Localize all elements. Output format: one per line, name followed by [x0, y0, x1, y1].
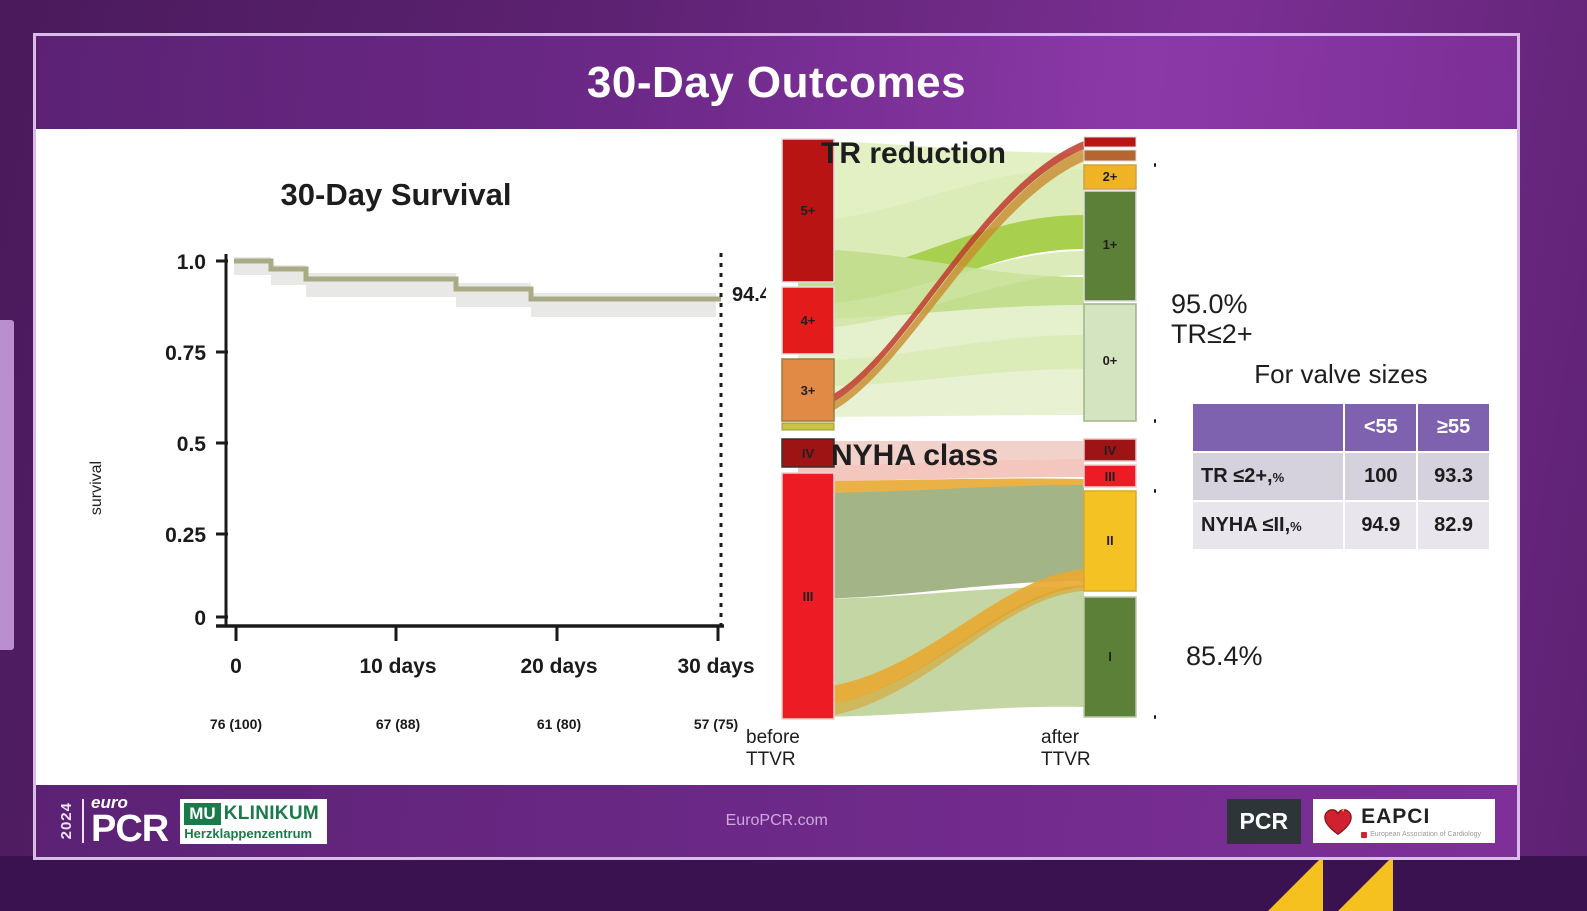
tr-right-node-4plus[interactable]: [1084, 150, 1136, 161]
logo-pcr-text: euro PCR: [91, 795, 168, 847]
slide-footer: 2024 euro PCR MU KLINIKUM Herzklappenzen…: [36, 785, 1517, 857]
heart-icon: [1323, 807, 1353, 837]
nyha-left-node-iii-label: III: [803, 589, 814, 604]
eapci-dot-icon: [1361, 832, 1367, 838]
logo-divider: [82, 799, 84, 843]
tr-sankey-title: TR reduction: [821, 137, 1006, 171]
nyha-summary-bracket: [1154, 491, 1156, 717]
survival-at-risk: 57 (75): [694, 716, 738, 732]
survival-chart-panel: 30-Day Survival survival: [76, 149, 766, 769]
table-header-blank: [1193, 404, 1343, 451]
survival-xtick: 10 days: [359, 655, 436, 678]
table-row: TR ≤2+,% 100 93.3: [1193, 453, 1489, 500]
nyha-right-node-ii-label: II: [1106, 533, 1113, 548]
table-header-lt55: <55: [1345, 404, 1416, 451]
klinikum-row: MU KLINIKUM: [184, 803, 319, 825]
logo-year: 2024: [58, 802, 75, 839]
survival-at-risk: 67 (88): [376, 716, 420, 732]
sankey-svg: 5+ 4+ 3+ 2+ 1+ 0+: [736, 129, 1156, 729]
nyha-right-node-iii-label: III: [1105, 469, 1116, 484]
survival-ytick: 0: [194, 607, 206, 630]
row-label-nyha-unit: %: [1290, 519, 1302, 534]
valve-table-title: For valve sizes: [1176, 359, 1506, 390]
quote-mark-icon: [1338, 856, 1393, 911]
bottom-decor-strip: [0, 856, 1587, 911]
table-row: NYHA ≤II,% 94.9 82.9: [1193, 502, 1489, 549]
tr-right-node-0plus-label: 0+: [1103, 353, 1118, 368]
slide-stage: 30-Day Outcomes 30-Day Survival survival: [0, 0, 1587, 911]
nyha-summary-annotation: 85.4%: [1186, 641, 1263, 671]
sankey-after-caption: after TTVR: [1041, 727, 1091, 771]
after-line1: after: [1041, 727, 1091, 749]
survival-at-risk: 61 (80): [537, 716, 581, 732]
nyha-sankey-group: IV III IV III II I: [782, 439, 1156, 719]
sankey-before-caption: before TTVR: [746, 727, 800, 771]
eapci-logo: EAPCI European Association of Cardiology: [1313, 799, 1495, 843]
survival-ytick: 0.5: [177, 433, 207, 456]
tr-right-node-1plus-label: 1+: [1103, 237, 1118, 252]
europcr-logo: 2024 euro PCR: [58, 795, 168, 847]
valve-sizes-panel: For valve sizes <55 ≥55 TR ≤2+,% 100: [1176, 359, 1506, 551]
quote-mark-icon: [1268, 856, 1323, 911]
tr-summary-bracket: [1154, 165, 1156, 421]
survival-at-risk: 76 (100): [210, 716, 262, 732]
tr-left-node-3plus-label: 3+: [801, 383, 816, 398]
left-edge-accent: [0, 320, 14, 650]
klinikum-mu-mark: MU: [184, 803, 220, 825]
table-header-row: <55 ≥55: [1193, 404, 1489, 451]
nyha-right-node-iv-label: IV: [1104, 443, 1117, 458]
row-label-tr-text: TR ≤2+,: [1201, 465, 1273, 487]
tr-left-node-minor[interactable]: [782, 423, 834, 430]
tr-right-node-2plus-label: 2+: [1103, 169, 1118, 184]
survival-xtick: 20 days: [520, 655, 597, 678]
nyha-sankey-title: NYHA class: [831, 439, 998, 473]
table-header-gte55: ≥55: [1418, 404, 1489, 451]
eapci-sub-text: European Association of Cardiology: [1370, 831, 1481, 838]
row-nyha-gte55: 82.9: [1418, 502, 1489, 549]
klinikum-logo: MU KLINIKUM Herzklappenzentrum: [180, 799, 327, 844]
survival-ytick: 1.0: [177, 251, 206, 274]
eapci-name: EAPCI: [1361, 805, 1481, 829]
pcr-badge-logo: PCR: [1227, 799, 1302, 844]
nyha-left-node-iv-label: IV: [802, 446, 815, 461]
tr-summary-value: 95.0%: [1171, 289, 1253, 319]
tr-left-node-4plus-label: 4+: [801, 313, 816, 328]
row-label-nyha-text: NYHA ≤II,: [1201, 514, 1290, 536]
valve-sizes-table: <55 ≥55 TR ≤2+,% 100 93.3 NYHA ≤II,% 94.…: [1191, 402, 1491, 551]
row-tr-gte55: 93.3: [1418, 453, 1489, 500]
logo-pcr-word: PCR: [91, 808, 168, 850]
nyha-right-node-i-label: I: [1108, 649, 1112, 664]
row-label-tr-unit: %: [1273, 470, 1285, 485]
footer-website: EuroPCR.com: [327, 812, 1227, 830]
survival-xtick: 0: [230, 655, 242, 678]
eapci-subtitle: European Association of Cardiology: [1361, 831, 1481, 838]
tr-sankey-group: 5+ 4+ 3+ 2+ 1+ 0+: [782, 137, 1156, 430]
klinikum-subtitle: Herzklappenzentrum: [184, 826, 319, 841]
after-line2: TTVR: [1041, 749, 1091, 771]
slide-title-bar: 30-Day Outcomes: [36, 36, 1517, 129]
tr-left-node-5plus-label: 5+: [801, 203, 816, 218]
eapci-text-block: EAPCI European Association of Cardiology: [1361, 805, 1481, 838]
row-label-nyha: NYHA ≤II,%: [1193, 502, 1343, 549]
slide-frame: 30-Day Outcomes 30-Day Survival survival: [33, 33, 1520, 860]
sankey-panel: TR reduction NYHA class: [736, 129, 1156, 791]
row-tr-lt55: 100: [1345, 453, 1416, 500]
klinikum-name: KLINIKUM: [224, 803, 319, 825]
page-title: 30-Day Outcomes: [587, 58, 966, 108]
before-line1: before: [746, 727, 800, 749]
survival-ytick: 0.25: [165, 524, 206, 547]
survival-chart-svg: 1.0 0.75 0.5 0.25 0 0 10 days 20 days 30…: [76, 149, 766, 769]
row-label-tr: TR ≤2+,%: [1193, 453, 1343, 500]
row-nyha-lt55: 94.9: [1345, 502, 1416, 549]
tr-right-node-5plus[interactable]: [1084, 137, 1136, 147]
tr-summary-text: TR≤2+: [1171, 319, 1253, 349]
survival-ytick: 0.75: [165, 342, 206, 365]
tr-summary-annotation: 95.0% TR≤2+: [1171, 289, 1253, 349]
before-line2: TTVR: [746, 749, 800, 771]
slide-body: 30-Day Survival survival: [36, 129, 1517, 791]
